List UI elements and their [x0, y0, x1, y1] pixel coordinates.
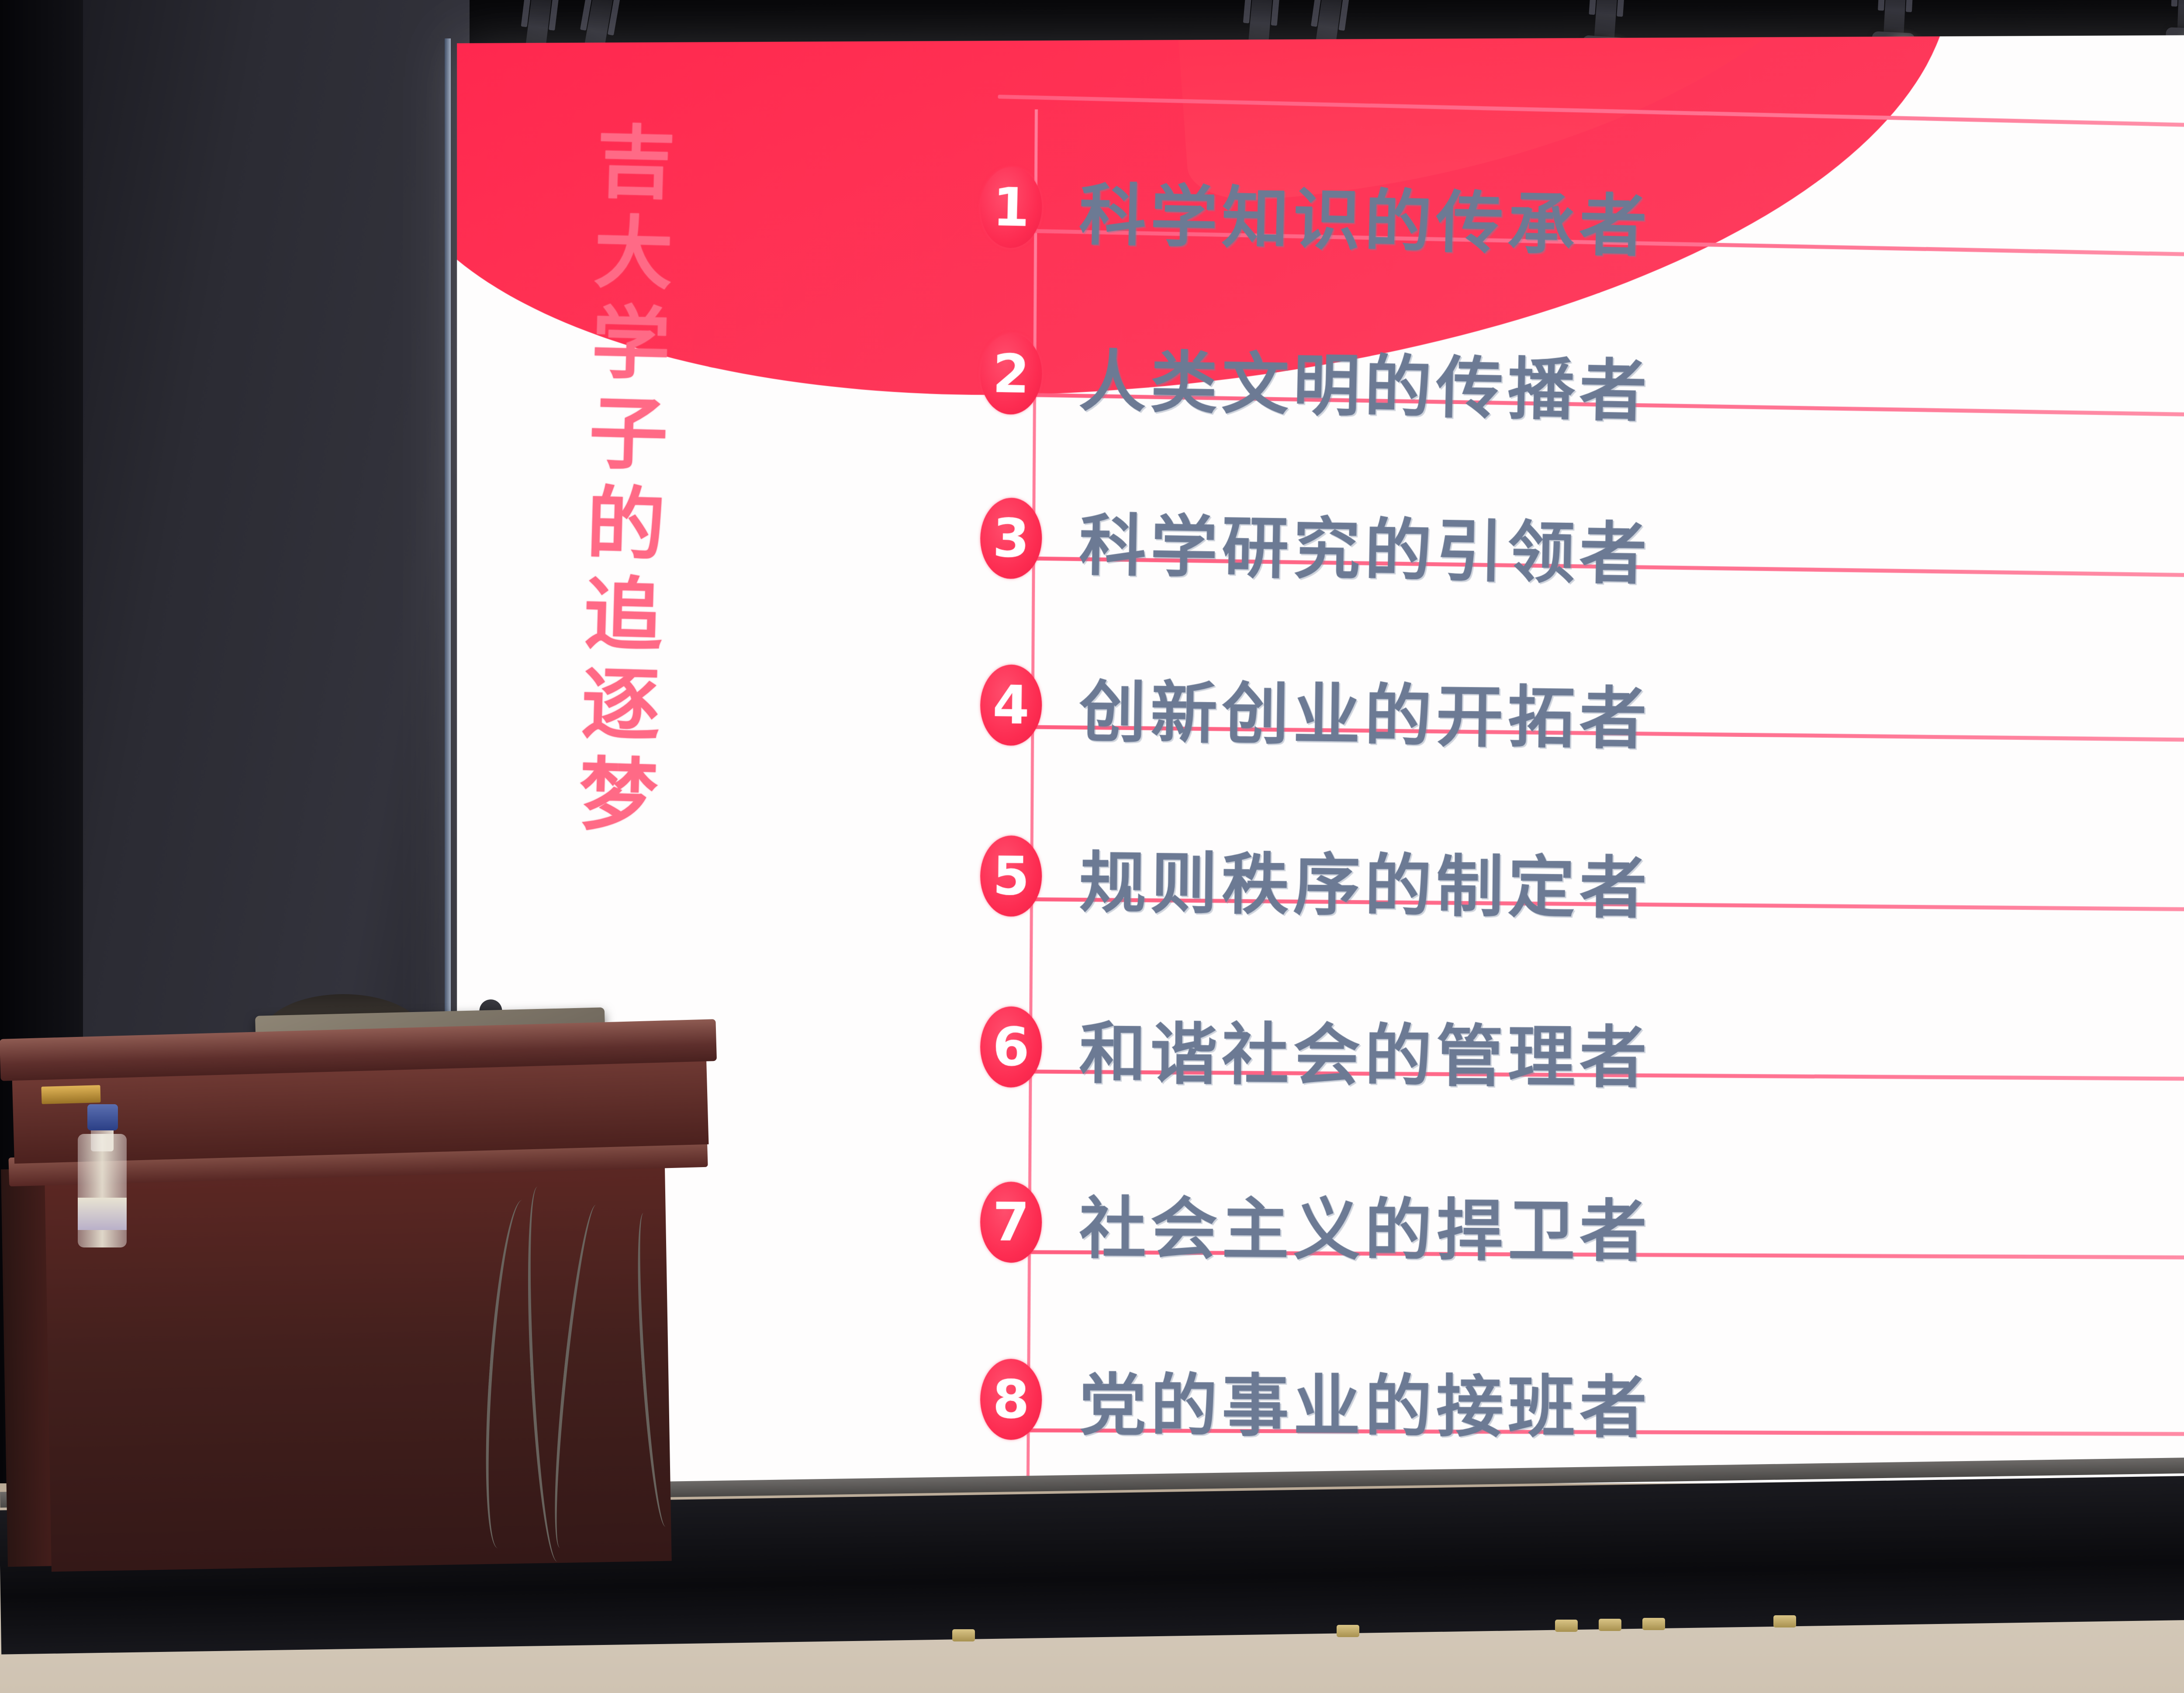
- slide-vertical-title: 吉大学子的追逐梦: [570, 120, 670, 844]
- list-divider: [998, 95, 2184, 133]
- list-item-number-badge: 2: [979, 333, 1043, 415]
- list-item[interactable]: 8 党的事业的接班者: [980, 1334, 1651, 1468]
- floor-fixture: [1555, 1620, 1578, 1632]
- list-item[interactable]: 6 和谐社会的管理者: [980, 981, 1652, 1118]
- water-bottle-label: [78, 1198, 127, 1230]
- list-item-label: 人类文明的传播者: [1078, 327, 1652, 435]
- list-item-number-badge: 6: [980, 1006, 1042, 1088]
- list-item-number-badge: 4: [980, 664, 1043, 746]
- list-item-label: 党的事业的接班者: [1079, 1351, 1652, 1451]
- list-item-label: 社会主义的捍卫者: [1079, 1174, 1651, 1275]
- list-item-number-badge: 7: [980, 1182, 1042, 1263]
- floor-fixture: [1599, 1619, 1621, 1631]
- floor-fixture: [1642, 1618, 1665, 1630]
- list-item-number-badge: 8: [980, 1359, 1042, 1440]
- list-item[interactable]: 7 社会主义的捍卫者: [980, 1157, 1652, 1291]
- list-item-label: 科学研究的引领者: [1078, 491, 1652, 598]
- list-item[interactable]: 5 规则秩序的制定者: [980, 810, 1652, 948]
- list-item-label: 科学知识的传承者: [1078, 160, 1652, 269]
- list-item[interactable]: 3 科学研究的引领者: [979, 473, 1652, 614]
- list-item[interactable]: 2 人类文明的传播者: [979, 308, 1652, 451]
- list-item-label: 规则秩序的制定者: [1079, 828, 1652, 931]
- slide-numbered-list: 1 科学知识的传承者 2 人类文明的传播者 3 科学研究的引领者 4 创新创业的…: [980, 95, 2184, 1462]
- list-item[interactable]: 4 创新创业的开拓者: [979, 639, 1652, 779]
- list-item-number-badge: 5: [980, 835, 1042, 917]
- list-item-number-badge: 1: [979, 166, 1043, 249]
- podium-nameplate: [41, 1085, 100, 1104]
- spotlight-icon: [2177, 0, 2184, 40]
- list-item[interactable]: 1 科学知识的传承者: [979, 142, 1653, 287]
- photo-scene: 吉大学子的追逐梦 1 科学知识的传承者 2 人类文明的传播者 3 科学研究的引: [0, 0, 2184, 1693]
- list-item-number-badge: 3: [980, 498, 1043, 580]
- list-item-label: 和谐社会的管理者: [1079, 999, 1652, 1101]
- floor-fixture: [952, 1629, 975, 1641]
- list-item-label: 创新创业的开拓者: [1078, 657, 1652, 762]
- floor-fixture: [1337, 1625, 1359, 1637]
- floor-fixture: [1773, 1615, 1796, 1627]
- water-bottle-cap: [87, 1104, 118, 1130]
